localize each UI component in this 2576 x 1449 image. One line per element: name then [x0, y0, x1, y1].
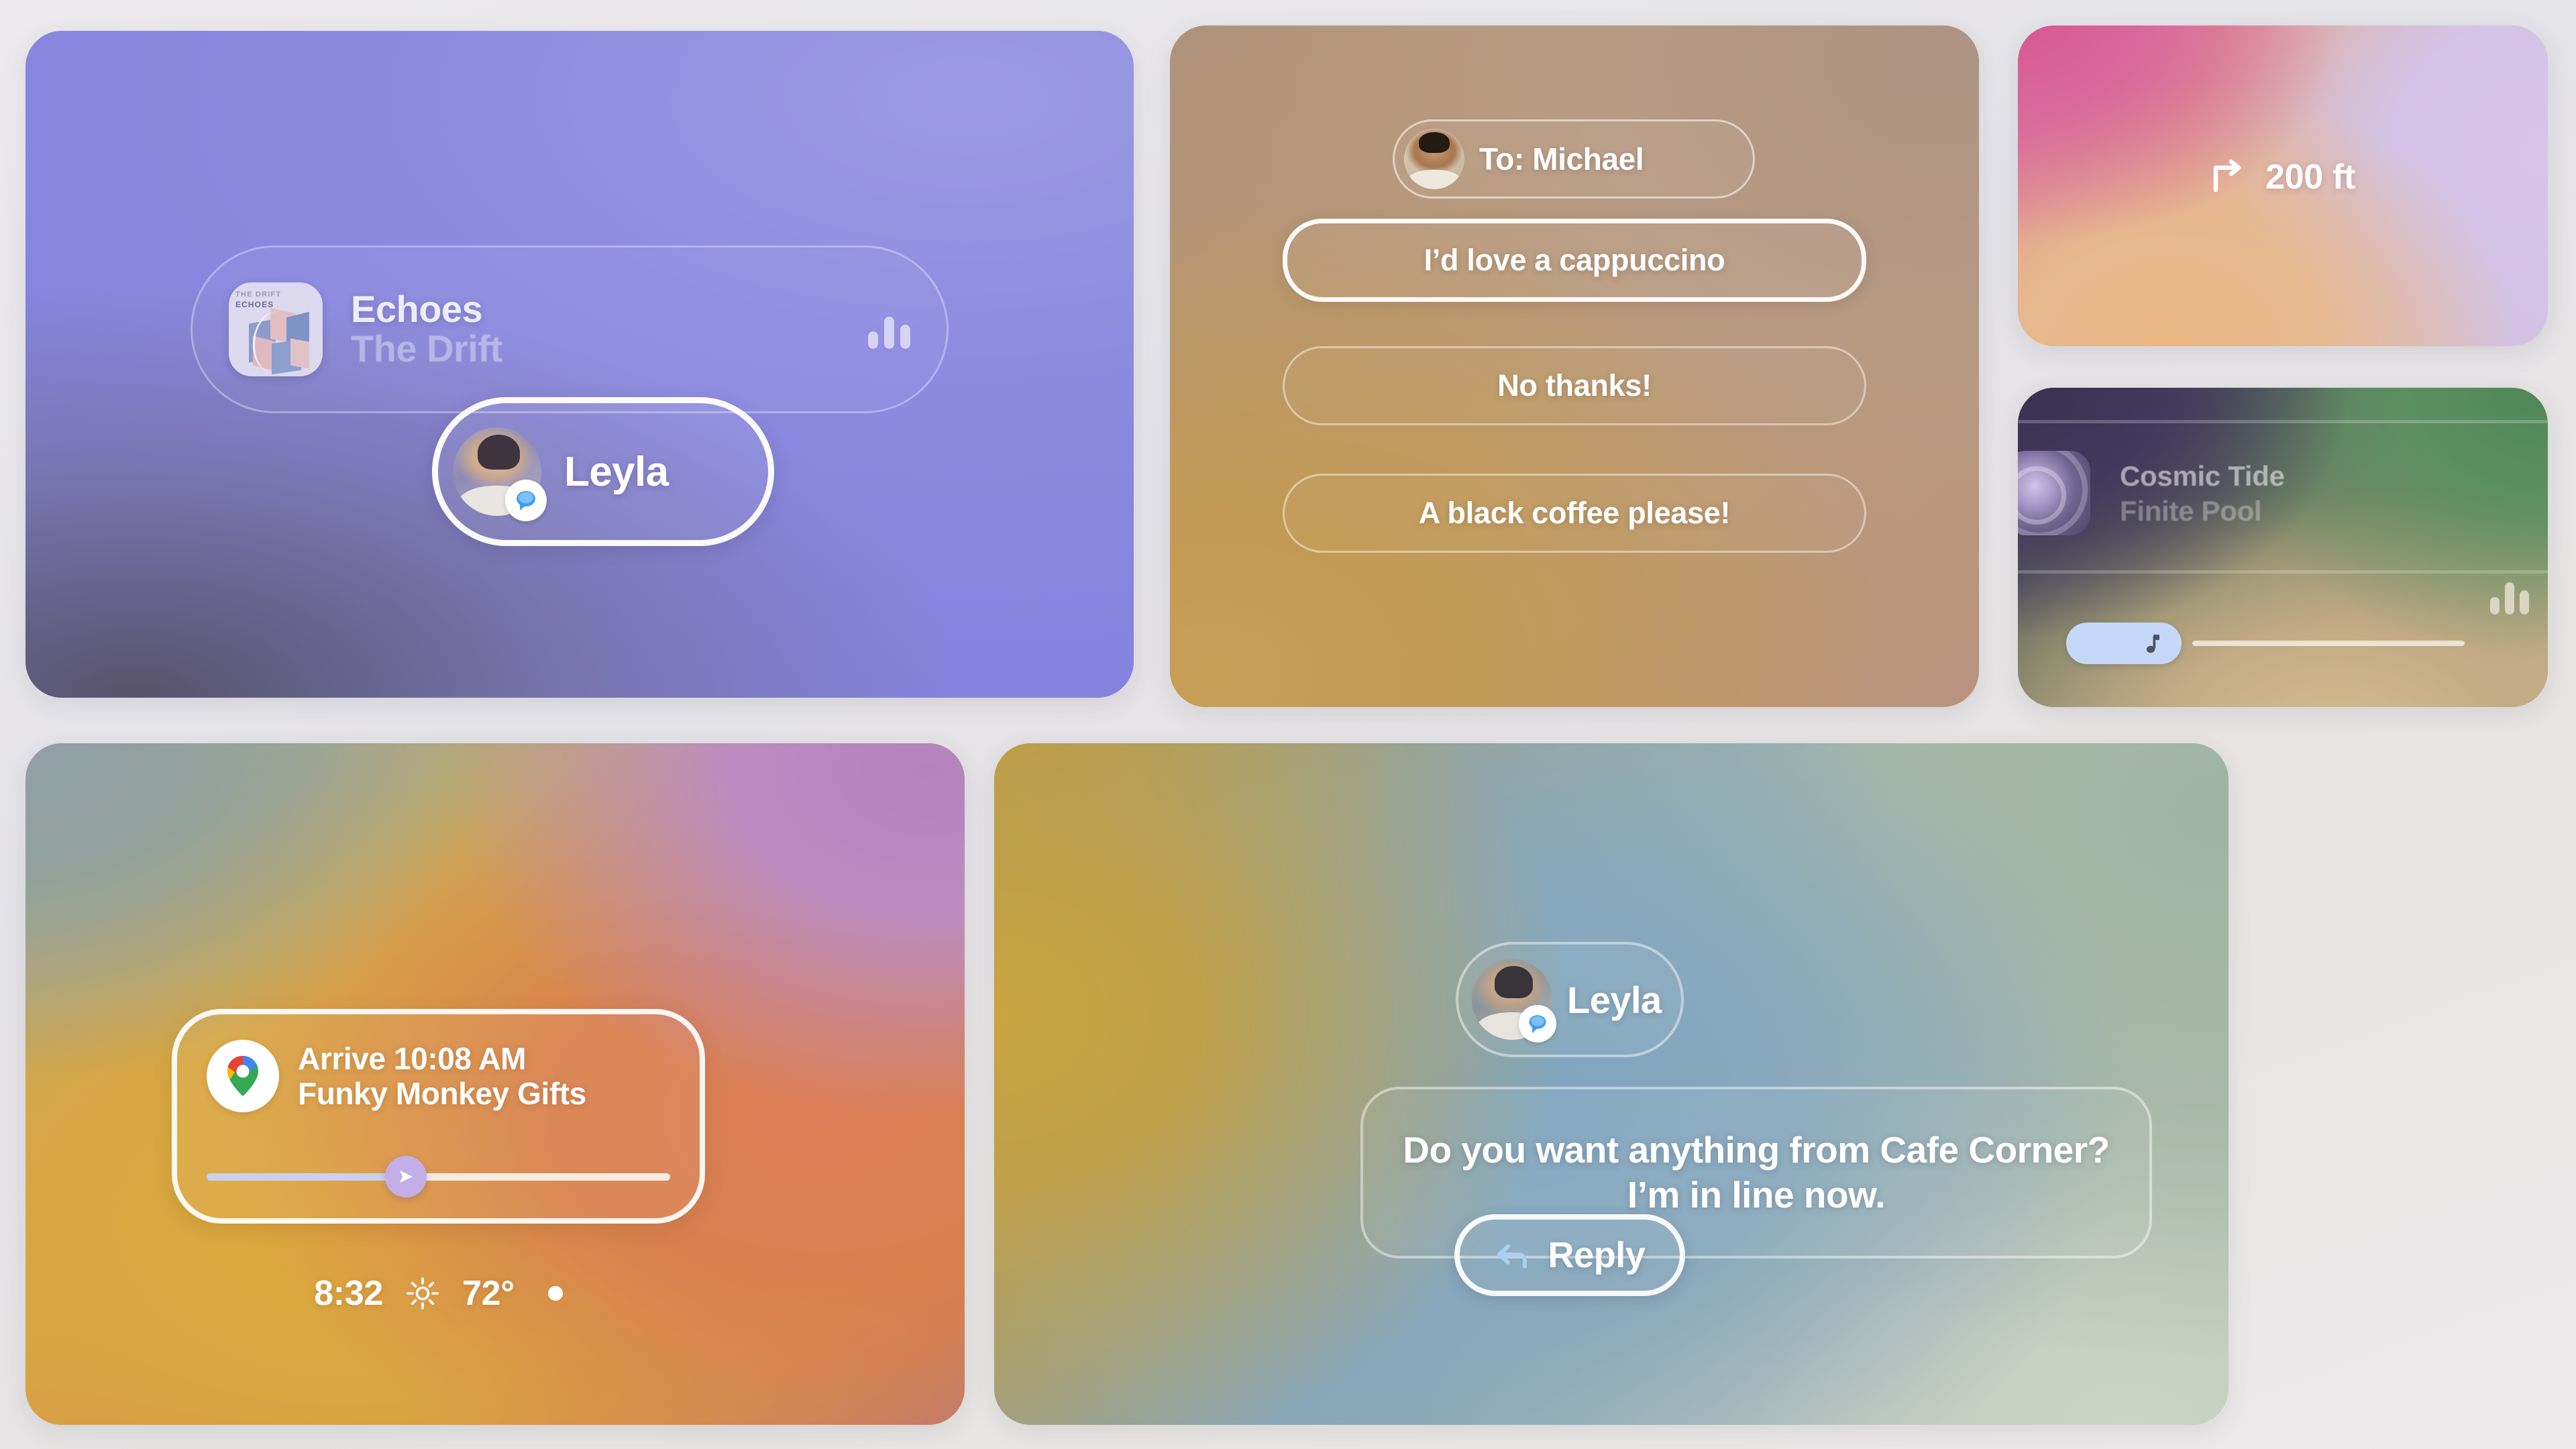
recipient-pill[interactable]: To: Michael [1393, 119, 1755, 199]
card-music-player[interactable]: Cosmic Tide Finite Pool [2018, 388, 2548, 707]
route-progress-fill [207, 1173, 411, 1181]
track-artist: Finite Pool [2120, 495, 2261, 527]
now-playing-pill[interactable]: THE DRIFT ECHOES Echoes The Drift [191, 246, 949, 413]
messages-bubble-icon [1519, 1005, 1556, 1042]
scrubber-thumb[interactable] [2066, 623, 2182, 664]
reply-option-label: I’d love a cappuccino [1424, 243, 1725, 278]
eta-label: Arrive 10:08 AM [298, 1041, 586, 1076]
album-art-icon: THE DRIFT ECHOES [229, 282, 323, 376]
card-now-playing-contact[interactable]: THE DRIFT ECHOES Echoes The Drift [25, 31, 1134, 698]
contact-name: Leyla [564, 448, 669, 496]
card-reply-options[interactable]: To: Michael I’d love a cappuccino No tha… [1170, 25, 1979, 707]
reply-option-2[interactable]: A black coffee please! [1283, 474, 1866, 553]
reply-button-label: Reply [1548, 1234, 1645, 1276]
google-maps-pin-icon [207, 1040, 279, 1112]
destination-label: Funky Monkey Gifts [298, 1076, 586, 1111]
widget-board: THE DRIFT ECHOES Echoes The Drift [0, 0, 2576, 1449]
status-row: 8:32 72° [172, 1273, 705, 1313]
divider-top [2018, 420, 2548, 423]
avatar [1404, 129, 1464, 189]
reply-option-1[interactable]: No thanks! [1283, 346, 1866, 425]
messages-bubble-icon [505, 480, 547, 521]
card-navigation-distance[interactable]: 200 ft [2018, 25, 2548, 346]
playback-scrubber[interactable] [2066, 623, 2525, 664]
avatar [1472, 959, 1552, 1040]
status-dot [548, 1286, 563, 1301]
divider-bottom [2018, 570, 2548, 574]
track-title: Cosmic Tide [2120, 460, 2285, 492]
temperature-label: 72° [462, 1273, 515, 1313]
navigation-arrow-icon[interactable] [385, 1156, 427, 1197]
arrival-header: Arrive 10:08 AM Funky Monkey Gifts [177, 1014, 700, 1112]
avatar [453, 427, 541, 516]
card-incoming-message[interactable]: Leyla Do you want anything from Cafe Cor… [994, 743, 2229, 1425]
equalizer-icon [2490, 580, 2529, 614]
card-background-gradient [994, 743, 2229, 1425]
contact-pill-leyla[interactable]: Leyla [432, 397, 774, 546]
album-art-icon [2018, 451, 2090, 535]
navigation-row: 200 ft [2018, 157, 2548, 197]
route-progress-track [411, 1173, 670, 1181]
track-artist: The Drift [351, 329, 852, 368]
reply-option-label: A black coffee please! [1419, 496, 1730, 531]
recipient-label: To: Michael [1479, 141, 1644, 177]
reply-arrow-icon [1494, 1237, 1530, 1273]
arrival-panel[interactable]: Arrive 10:08 AM Funky Monkey Gifts [172, 1009, 705, 1224]
reply-button[interactable]: Reply [1454, 1214, 1685, 1296]
equalizer-icon [868, 310, 910, 349]
reply-option-0[interactable]: I’d love a cappuccino [1283, 219, 1866, 302]
arrival-text: Arrive 10:08 AM Funky Monkey Gifts [298, 1041, 586, 1112]
clock-label: 8:32 [314, 1273, 383, 1313]
message-body: Do you want anything from Cafe Corner? I… [1399, 1128, 2113, 1218]
turn-right-icon [2210, 158, 2248, 196]
album-art-label-bottom: ECHOES [235, 300, 274, 309]
sender-name: Leyla [1567, 978, 1662, 1022]
route-progress-bar[interactable] [207, 1159, 670, 1194]
reply-option-label: No thanks! [1497, 368, 1652, 403]
scrubber-track[interactable] [2192, 641, 2465, 646]
sender-pill[interactable]: Leyla [1456, 942, 1684, 1057]
distance-label: 200 ft [2265, 157, 2355, 197]
album-art-label-top: THE DRIFT [235, 290, 281, 299]
track-title: Echoes [351, 290, 852, 329]
music-note-icon [2140, 631, 2164, 655]
card-arrival-navigation[interactable]: Arrive 10:08 AM Funky Monkey Gifts 8:32 [25, 743, 965, 1425]
sun-icon [406, 1277, 439, 1310]
now-playing-meta: Echoes The Drift [351, 290, 852, 369]
